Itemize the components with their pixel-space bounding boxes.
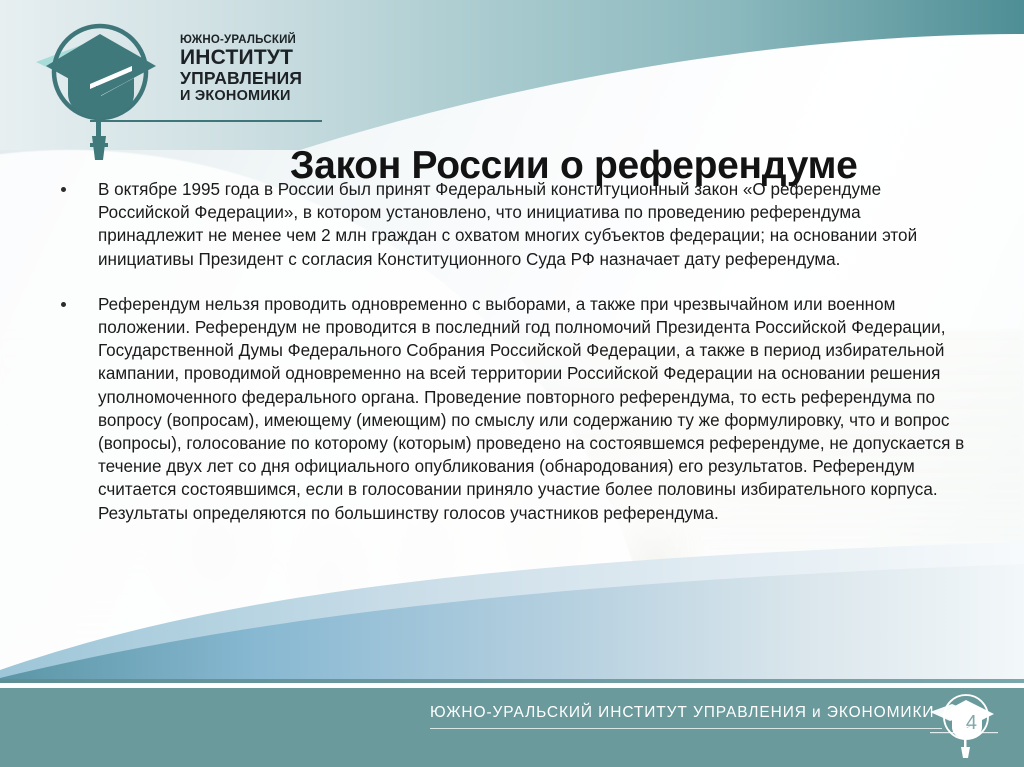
institute-logo: ЮЖНО-УРАЛЬСКИЙ ИНСТИТУТ УПРАВЛЕНИЯ И ЭКО…: [28, 10, 318, 160]
logo-line-4: И ЭКОНОМИКИ: [180, 88, 320, 105]
logo-wordmark: ЮЖНО-УРАЛЬСКИЙ ИНСТИТУТ УПРАВЛЕНИЯ И ЭКО…: [180, 34, 320, 105]
footer-graduation-cap-logo-icon: [928, 692, 1000, 758]
graduation-cap-logo-icon: [28, 10, 178, 160]
bullet-item: Референдум нельзя проводить одновременно…: [40, 293, 970, 525]
logo-line-3: УПРАВЛЕНИЯ: [180, 69, 320, 88]
bullet-dot-icon: [61, 187, 66, 192]
slide-body: В октябре 1995 года в России был принят …: [40, 178, 970, 547]
footer-institute-name: ЮЖНО-УРАЛЬСКИЙ ИНСТИТУТ УПРАВЛЕНИЯ и ЭКО…: [430, 702, 970, 724]
bullet-text: Референдум нельзя проводить одновременно…: [98, 293, 970, 525]
slide-footer: ЮЖНО-УРАЛЬСКИЙ ИНСТИТУТ УПРАВЛЕНИЯ и ЭКО…: [0, 688, 1024, 767]
page-number: 4: [966, 713, 977, 733]
footer-content: ЮЖНО-УРАЛЬСКИЙ ИНСТИТУТ УПРАВЛЕНИЯ и ЭКО…: [430, 702, 970, 752]
presentation-slide: ЮЖНО-УРАЛЬСКИЙ ИНСТИТУТ УПРАВЛЕНИЯ И ЭКО…: [0, 0, 1024, 767]
bullet-text: В октябре 1995 года в России был принят …: [98, 178, 970, 271]
footer-rule: [430, 728, 942, 729]
logo-underline: [90, 120, 322, 122]
bullet-dot-icon: [61, 302, 66, 307]
logo-line-2: ИНСТИТУТ: [180, 47, 320, 69]
bottom-blue-wedge-decoration: [0, 538, 1024, 688]
bullet-item: В октябре 1995 года в России был принят …: [40, 178, 970, 271]
